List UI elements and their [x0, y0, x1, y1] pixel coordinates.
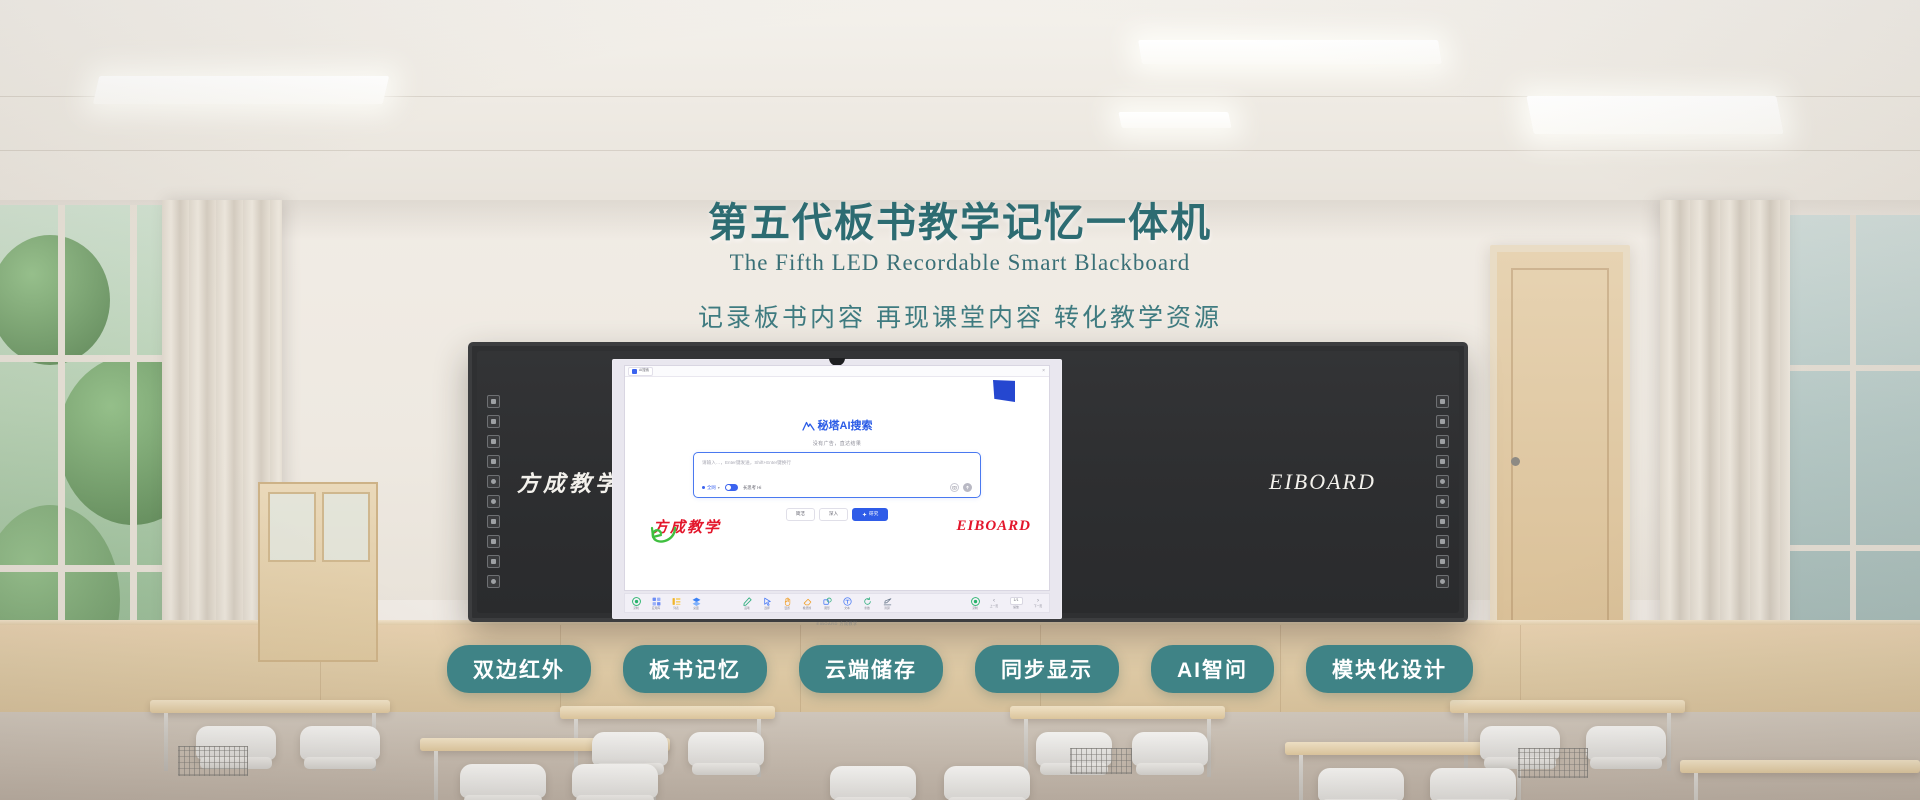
toolbar-label: 缩放	[1013, 606, 1019, 609]
toolbar-label: 图形	[824, 607, 830, 610]
save-icon[interactable]	[1436, 535, 1449, 548]
desk-basket	[1070, 748, 1132, 774]
toolbar-label: 下一页	[1034, 605, 1042, 608]
scope-dot-icon	[702, 486, 705, 489]
browser-window[interactable]: AI搜索 × 秘塔AI搜索 没有广告，直达结果	[624, 365, 1050, 591]
blackboard-left-handwriting: 方成教学	[517, 466, 621, 498]
side-cabinet	[258, 482, 378, 662]
search-placeholder: 请输入…，Enter键发送，Shift+Enter键换行	[702, 460, 791, 466]
toolbar-select[interactable]: 选择	[760, 597, 774, 610]
record-icon	[632, 597, 641, 606]
toolbar-label: 应用库	[652, 607, 660, 610]
desk-basket	[178, 746, 248, 776]
browser-tabbar[interactable]: AI搜索 ×	[625, 366, 1049, 377]
ceiling-light	[1118, 112, 1231, 128]
feature-pill-dual-infrared[interactable]: 双边红外	[447, 645, 591, 693]
screen-red-handwriting-en: EIBOARD	[956, 518, 1031, 535]
toolbar-redo[interactable]: 重做	[860, 597, 874, 610]
left-control-rail[interactable]	[487, 395, 500, 588]
feature-pill-ai-ask[interactable]: AI智问	[1151, 645, 1274, 693]
ceiling-light	[93, 76, 389, 104]
undo-icon	[863, 597, 872, 606]
toolbar-roam[interactable]: 漫游	[780, 597, 794, 610]
mode-button-research[interactable]: 研究	[852, 508, 888, 521]
search-scope-label: 全网	[707, 485, 716, 491]
browser-tab[interactable]: AI搜索	[628, 367, 653, 376]
mita-search-hero: 秘塔AI搜索 没有广告，直达结果	[625, 418, 1049, 447]
page-subtitle: The Fifth LED Recordable Smart Blackboar…	[0, 250, 1920, 276]
blackboard-right-brand: EIBOARD	[1269, 469, 1376, 495]
display-icon[interactable]	[487, 395, 500, 408]
grid-icon	[652, 597, 661, 606]
classroom-scene: 方成教学 EIBOARD AI搜索 ×	[0, 0, 1920, 800]
pen-icon[interactable]	[1436, 415, 1449, 428]
toolbar-label: 漫游	[784, 607, 790, 610]
toolbar-label: 文本	[844, 607, 850, 610]
mode-button-deep[interactable]: 深入	[819, 508, 848, 521]
toolbar-record-right[interactable]: 录制	[968, 597, 982, 610]
toolbar-eraser[interactable]: 橡皮擦	[800, 597, 814, 610]
ceiling-light	[1526, 96, 1783, 134]
page-icon[interactable]	[487, 455, 500, 468]
toolbar-page-indicator[interactable]: 1/1 缩放	[1006, 597, 1026, 608]
pen-icon	[743, 597, 752, 606]
settings-icon[interactable]	[487, 555, 500, 568]
toolbar-text[interactable]: 文本	[840, 597, 854, 610]
record-icon[interactable]	[487, 475, 500, 488]
screen-bottom-toolbar[interactable]: 录制 应用库 列表 桌面	[624, 593, 1050, 613]
settings-icon[interactable]	[1436, 555, 1449, 568]
feature-pill-board-memory[interactable]: 板书记忆	[623, 645, 767, 693]
page-tagline: 记录板书内容 再现课堂内容 转化教学资源	[0, 298, 1920, 334]
mic-icon[interactable]	[487, 495, 500, 508]
smart-blackboard[interactable]: 方成教学 EIBOARD AI搜索 ×	[468, 342, 1468, 622]
search-scope-selector[interactable]: 全网 ▾	[702, 485, 720, 491]
hero-headings: 第五代板书教学记忆一体机 The Fifth LED Recordable Sm…	[0, 200, 1920, 334]
toolbar-app-library[interactable]: 应用库	[649, 597, 663, 610]
shape-icon	[823, 597, 832, 606]
eraser-icon	[803, 597, 812, 606]
toolbar-label: 上一页	[990, 605, 998, 608]
blue-flag-graphic	[993, 380, 1015, 402]
green-undo-stroke-icon	[649, 524, 679, 550]
toolbar-label: 重做	[864, 607, 870, 610]
toolbar-label: 桌面	[693, 607, 699, 610]
feature-pill-modular-design[interactable]: 模块化设计	[1306, 645, 1473, 693]
mita-logo: 秘塔AI搜索	[802, 421, 873, 432]
page-indicator-value: 1/1	[1010, 597, 1023, 605]
mic-icon[interactable]	[1436, 495, 1449, 508]
device-brand-plate: EIBOARD 方成教学	[816, 621, 857, 627]
stop-icon[interactable]	[1436, 515, 1449, 528]
right-control-rail[interactable]	[1436, 395, 1449, 588]
toolbar-label: 清屏	[884, 607, 890, 610]
record-icon[interactable]	[1436, 475, 1449, 488]
feature-pill-cloud-storage[interactable]: 云端储存	[799, 645, 943, 693]
clear-icon	[883, 597, 892, 606]
power-icon[interactable]	[1436, 575, 1449, 588]
toolbar-label: 录制	[972, 607, 978, 610]
save-icon[interactable]	[487, 535, 500, 548]
select-icon	[763, 597, 772, 606]
toolbar-shape[interactable]: 图形	[820, 597, 834, 610]
display-icon[interactable]	[1436, 395, 1449, 408]
mita-logo-text: 秘塔AI搜索	[818, 421, 873, 432]
record-icon	[971, 597, 980, 606]
toolbar-label: 橡皮擦	[803, 607, 811, 610]
camera-icon[interactable]	[950, 483, 959, 492]
toolbar-label: 列表	[673, 607, 679, 610]
toolbar-label: 画笔	[744, 607, 750, 610]
toolbar-clear[interactable]: 清屏	[880, 597, 894, 610]
toolbar-desktop[interactable]: 桌面	[689, 597, 703, 610]
highlighter-icon[interactable]	[1436, 435, 1449, 448]
apps-icon	[692, 597, 701, 606]
desk-basket	[1518, 748, 1588, 778]
page-icon[interactable]	[1436, 455, 1449, 468]
toolbar-pen[interactable]: 画笔	[740, 597, 754, 610]
list-icon	[672, 597, 681, 606]
center-touch-screen[interactable]: AI搜索 × 秘塔AI搜索 没有广告，直达结果	[612, 359, 1062, 619]
text-icon	[843, 597, 852, 606]
stop-icon[interactable]	[487, 515, 500, 528]
send-icon[interactable]	[963, 483, 972, 492]
toolbar-label: 录制	[633, 607, 639, 610]
toolbar-next-page[interactable]: › 下一页	[1031, 598, 1045, 608]
search-input-box[interactable]: 请输入…，Enter键发送，Shift+Enter键换行 全网 ▾ 长思考 Hi	[693, 452, 981, 498]
power-icon[interactable]	[487, 575, 500, 588]
mita-logo-icon	[802, 421, 815, 431]
toolbar-label: 选择	[764, 607, 770, 610]
toolbar-list[interactable]: 列表	[669, 597, 683, 610]
close-icon[interactable]: ×	[1042, 369, 1045, 374]
favicon-icon	[632, 369, 637, 374]
chevron-down-icon[interactable]: ▾	[718, 485, 720, 490]
page-title: 第五代板书教学记忆一体机	[0, 200, 1920, 246]
pen-icon[interactable]	[487, 415, 500, 428]
mita-subtitle: 没有广告，直达结果	[625, 440, 1049, 447]
mode-button-research-label: 研究	[869, 512, 878, 517]
spark-icon	[862, 512, 867, 517]
door-knob-icon[interactable]	[1511, 457, 1520, 466]
hand-icon	[783, 597, 792, 606]
toolbar-prev-page[interactable]: ‹ 上一页	[987, 598, 1001, 608]
deep-think-label: 长思考 Hi	[743, 485, 762, 491]
toolbar-record[interactable]: 录制	[629, 597, 643, 610]
highlighter-icon[interactable]	[487, 435, 500, 448]
ceiling-light	[1138, 40, 1442, 64]
feature-pill-sync-display[interactable]: 同步显示	[975, 645, 1119, 693]
deep-think-toggle[interactable]	[725, 484, 738, 491]
mode-button-simple[interactable]: 简洁	[786, 508, 815, 521]
feature-pill-row: 双边红外 板书记忆 云端储存 同步显示 AI智问 模块化设计	[0, 645, 1920, 693]
browser-tab-title: AI搜索	[639, 369, 649, 372]
